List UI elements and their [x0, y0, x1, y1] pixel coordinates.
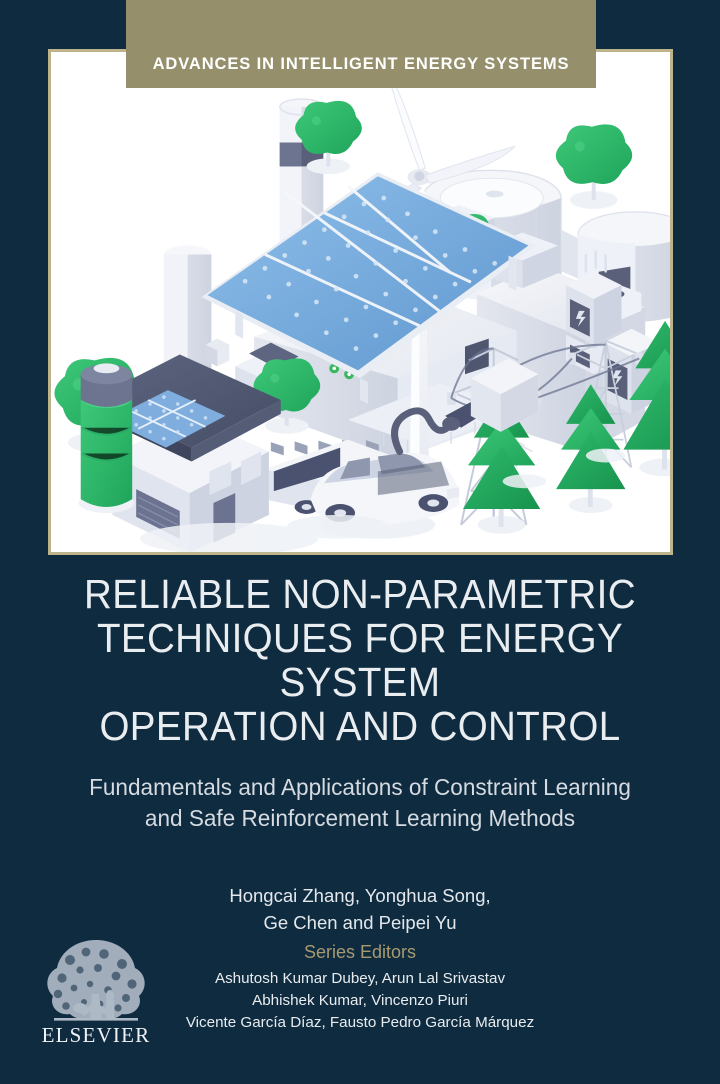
book-subtitle: Fundamentals and Applications of Constra… [39, 772, 680, 834]
book-title-line-3: OPERATION AND CONTROL [46, 704, 674, 748]
book-title-line-1: RELIABLE NON-PARAMETRIC [46, 572, 674, 616]
book-title-line-2: TECHNIQUES FOR ENERGY SYSTEM [46, 616, 674, 704]
book-authors: Hongcai Zhang, Yonghua Song, Ge Chen and… [26, 882, 694, 936]
book-title: RELIABLE NON-PARAMETRIC TECHNIQUES FOR E… [46, 572, 674, 748]
book-subtitle-line-2: and Safe Reinforcement Learning Methods [39, 803, 680, 834]
energy-system-illustration: AI [51, 52, 670, 552]
series-banner: ADVANCES IN INTELLIGENT ENERGY SYSTEMS [126, 0, 596, 88]
battery-storage-illustration [79, 363, 134, 513]
book-subtitle-line-1: Fundamentals and Applications of Constra… [39, 772, 680, 803]
series-banner-label: ADVANCES IN INTELLIGENT ENERGY SYSTEMS [153, 55, 570, 74]
elsevier-wordmark: ELSEVIER [42, 1023, 151, 1047]
cover-illustration-frame: AI [48, 49, 673, 555]
book-cover: AI [0, 0, 720, 1084]
title-block: RELIABLE NON-PARAMETRIC TECHNIQUES FOR E… [0, 572, 720, 936]
elsevier-logo: ELSEVIER [40, 932, 152, 1048]
book-authors-line-1: Hongcai Zhang, Yonghua Song, [26, 882, 694, 909]
cover-illustration-panel: AI [51, 52, 670, 552]
elsevier-tree-icon: ELSEVIER [40, 932, 152, 1048]
